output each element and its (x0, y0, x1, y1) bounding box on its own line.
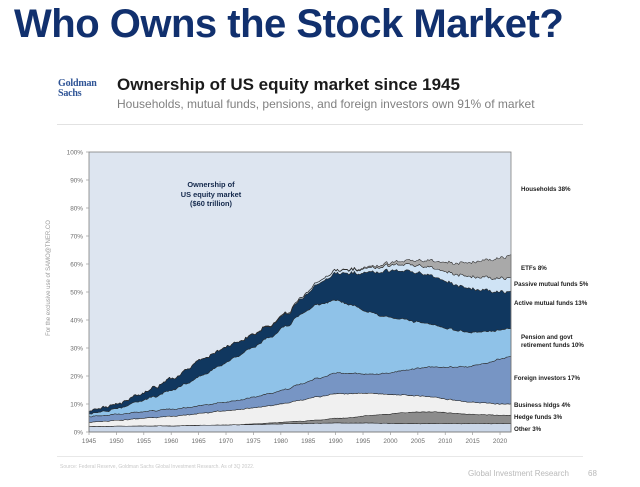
annotation-line-3: ($60 trillion) (152, 199, 270, 209)
footer-divider (57, 456, 583, 457)
series-label-foreign-investors: Foreign investors 17% (514, 375, 580, 383)
y-axis-tick-label: 100% (67, 149, 84, 156)
y-axis-tick-label: 90% (70, 177, 83, 184)
x-axis-tick-label: 1945 (82, 438, 97, 445)
series-label-etfs: ETFs 8% (521, 265, 547, 273)
y-axis-tick-label: 60% (70, 261, 83, 268)
series-label-business-hldgs: Business hldgs 4% (514, 402, 570, 410)
x-axis-tick-label: 1985 (301, 438, 316, 445)
x-axis-tick-label: 1975 (246, 438, 261, 445)
x-axis-tick-label: 1955 (137, 438, 152, 445)
x-axis-tick-label: 2000 (383, 438, 398, 445)
y-axis-tick-label: 30% (70, 345, 83, 352)
y-axis-tick-label: 40% (70, 317, 83, 324)
x-axis-tick-label: 2010 (438, 438, 453, 445)
x-axis-tick-label: 1970 (219, 438, 234, 445)
y-axis-tick-label: 20% (70, 373, 83, 380)
y-axis-tick-label: 50% (70, 289, 83, 296)
series-label-households: Households 38% (521, 186, 571, 194)
x-axis-tick-label: 1980 (274, 438, 289, 445)
x-axis-tick-label: 2015 (466, 438, 481, 445)
x-axis-tick-label: 2005 (411, 438, 426, 445)
x-axis-tick-label: 2020 (493, 438, 508, 445)
series-label-active-mutual-funds: Active mutual funds 13% (514, 300, 587, 308)
x-axis-tick-label: 1950 (109, 438, 124, 445)
x-axis-tick-label: 1995 (356, 438, 371, 445)
x-axis-tick-label: 1965 (192, 438, 207, 445)
series-label-passive-mutual-funds: Passive mutual funds 5% (514, 281, 588, 289)
plot-annotation: Ownership of US equity market ($60 trill… (152, 180, 270, 209)
annotation-line-1: Ownership of (152, 180, 270, 190)
source-note: Source: Federal Reserve, Goldman Sachs G… (60, 464, 254, 470)
page-number: 68 (588, 469, 597, 478)
y-axis-tick-label: 10% (70, 401, 83, 408)
y-axis-tick-label: 70% (70, 233, 83, 240)
series-label-pension-govt-retirement-funds: Pension and govt retirement funds 10% (521, 334, 584, 349)
y-axis-tick-label: 0% (74, 429, 84, 436)
series-label-other: Other 3% (514, 426, 541, 434)
y-axis-tick-label: 80% (70, 205, 83, 212)
pension-label-line-1: Pension and govt (521, 334, 584, 342)
footer-division-label: Global Investment Research (468, 469, 569, 478)
pension-label-line-2: retirement funds 10% (521, 342, 584, 350)
annotation-line-2: US equity market (152, 190, 270, 200)
x-axis-tick-label: 1960 (164, 438, 179, 445)
x-axis-tick-label: 1990 (329, 438, 344, 445)
series-label-hedge-funds: Hedge funds 3% (514, 414, 562, 422)
